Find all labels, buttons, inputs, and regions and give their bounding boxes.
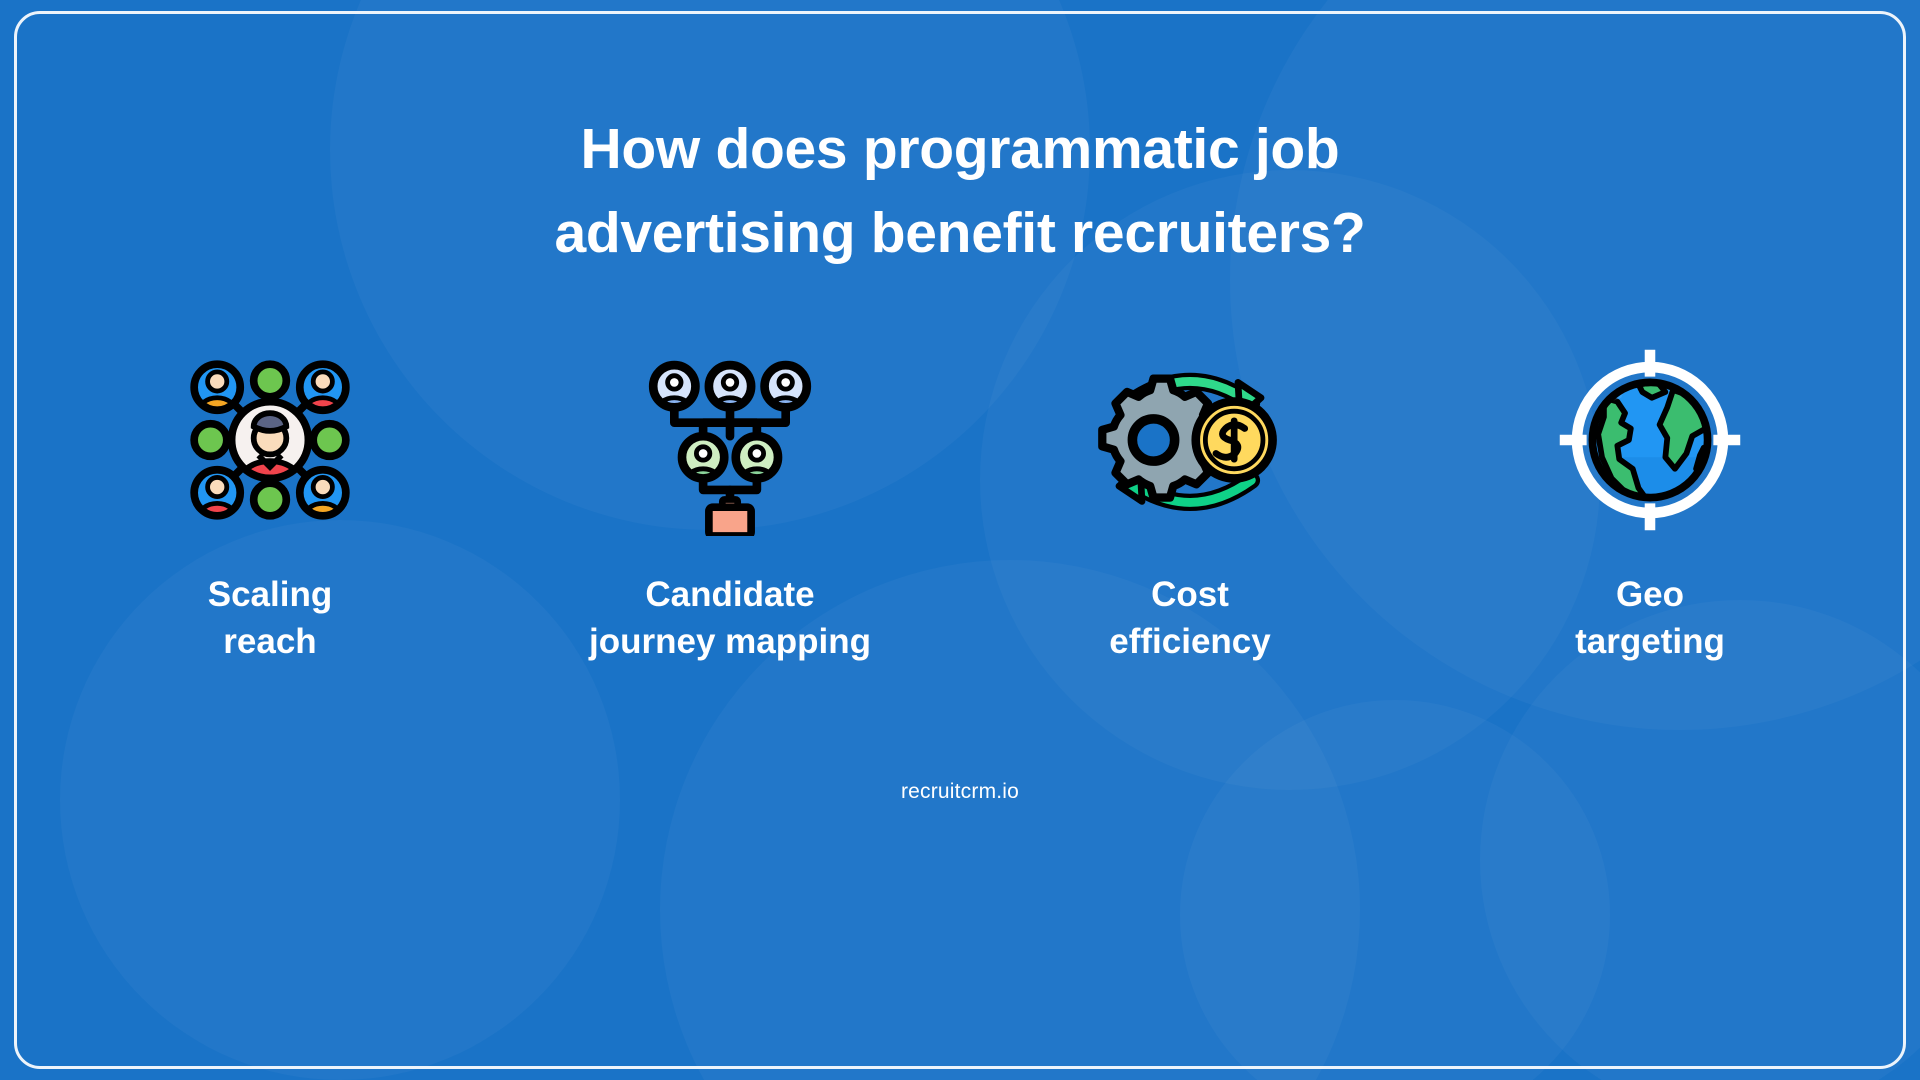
benefit-card-candidate-journey-mapping: Candidate journey mapping xyxy=(565,340,895,665)
label-line-2: reach xyxy=(208,619,332,666)
background-blob xyxy=(1180,700,1610,1080)
infographic-canvas: How does programmatic job advertising be… xyxy=(0,0,1920,1080)
title-line-1: How does programmatic job xyxy=(300,108,1620,192)
title-line-2: advertising benefit recruiters? xyxy=(300,192,1620,276)
label-line-2: efficiency xyxy=(1109,619,1270,666)
label-line-1: Geo xyxy=(1575,572,1725,619)
benefit-card-geo-targeting: Geo targeting xyxy=(1485,340,1815,665)
footer-brand-text: recruitcrm.io xyxy=(0,780,1920,804)
benefit-card-label: Geo targeting xyxy=(1575,572,1725,665)
benefit-card-list: Scaling reach xyxy=(40,340,1880,665)
label-line-1: Scaling xyxy=(208,572,332,619)
benefit-card-cost-efficiency: Cost efficiency xyxy=(1025,340,1355,665)
label-line-2: targeting xyxy=(1575,619,1725,666)
background-blob xyxy=(1480,600,1920,1080)
page-title: How does programmatic job advertising be… xyxy=(0,108,1920,276)
benefit-card-label: Scaling reach xyxy=(208,572,332,665)
benefit-card-label: Cost efficiency xyxy=(1109,572,1270,665)
benefit-card-scaling-reach: Scaling reach xyxy=(105,340,435,665)
org-chart-icon xyxy=(630,340,830,540)
label-line-1: Candidate xyxy=(589,572,871,619)
network-people-icon xyxy=(170,340,370,540)
label-line-2: journey mapping xyxy=(589,619,871,666)
geo-target-globe-icon xyxy=(1550,340,1750,540)
gear-coin-icon xyxy=(1090,340,1290,540)
benefit-card-label: Candidate journey mapping xyxy=(589,572,871,665)
label-line-1: Cost xyxy=(1109,572,1270,619)
